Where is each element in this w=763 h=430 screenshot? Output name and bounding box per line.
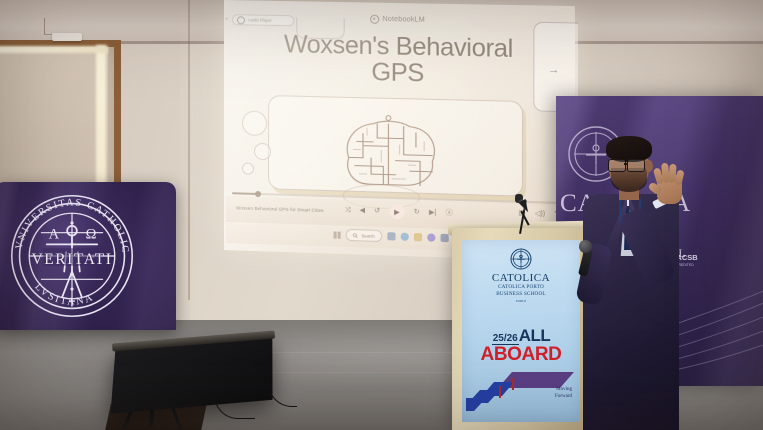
- lectern-brand-city: PORTO: [462, 299, 580, 303]
- eyeglasses-left-lens: [608, 159, 626, 172]
- notebooklm-brand-label: NotebookLM: [382, 16, 425, 24]
- search-icon: [353, 233, 358, 238]
- campaign-lockup: 25/26ALL ABOARD: [462, 326, 580, 364]
- lectern-panel: CATOLICA CATOLICA PORTO BUSINESS SCHOOL …: [462, 240, 580, 422]
- play-button[interactable]: ▶: [389, 204, 404, 220]
- seal-cross: ✝: [67, 297, 77, 310]
- arrow-right-icon: →: [548, 64, 559, 76]
- next-icon[interactable]: ▶|: [429, 209, 436, 216]
- speaker-figure: [575, 132, 705, 430]
- decorative-circle: [242, 110, 267, 136]
- lectern-brand-sub-2: BUSINESS SCHOOL: [462, 291, 580, 298]
- player-track-title: Woxsen Behavioral GPS for Smart Cities: [236, 205, 324, 213]
- presentation-photo-scene: + Audio Player NotebookLM Woxsen's Behav…: [0, 0, 763, 430]
- seal-alpha: Α: [49, 227, 60, 243]
- player-controls: ⤨ ◀ ↺ ▶ ↻ ▶| ⓧ: [345, 203, 453, 221]
- tagline-line-1: Moving: [555, 387, 572, 394]
- edge-icon[interactable]: [400, 233, 408, 241]
- store-icon[interactable]: [440, 234, 448, 242]
- lectern-brand-title: CATOLICA: [462, 272, 580, 284]
- window-top-glow: [0, 46, 108, 53]
- shuffle-icon[interactable]: ⤨: [345, 207, 351, 214]
- ceiling-fixture: [52, 33, 82, 41]
- lectern-tagline: Moving Forward: [555, 387, 572, 400]
- slide-title: Woxsen's Behavioral GPS: [224, 30, 575, 90]
- previous-icon[interactable]: ◀: [360, 207, 365, 214]
- widgets-icon[interactable]: [387, 232, 395, 240]
- start-icon[interactable]: [334, 231, 341, 238]
- teams-icon[interactable]: [427, 233, 435, 241]
- eyeglasses-right-lens: [627, 159, 645, 172]
- campaign-word-aboard: ABOARD: [462, 346, 580, 364]
- handheld-microphone-head: [579, 240, 592, 253]
- university-seal: VNIVERSITAS CATHOLICA LVSITANA Α Ω: [4, 188, 140, 324]
- eyeglasses-bridge: [624, 163, 628, 165]
- wall-corner: [188, 0, 190, 300]
- explorer-icon[interactable]: [414, 233, 422, 241]
- slide-title-line2: GPS: [224, 56, 575, 90]
- speaker-ear: [645, 160, 653, 172]
- svg-text:LVSITANA: LVSITANA: [32, 281, 96, 307]
- seek-progress: [232, 192, 258, 195]
- decorative-circle: [254, 143, 271, 160]
- notebooklm-logo-icon: [370, 15, 379, 24]
- campaign-word-all: ALL: [519, 326, 551, 345]
- taskbar-search-box[interactable]: Search: [346, 229, 382, 242]
- notebooklm-header: NotebookLM: [224, 8, 575, 33]
- lectern-brand-block: CATOLICA CATOLICA PORTO BUSINESS SCHOOL …: [462, 248, 580, 303]
- rewind-icon[interactable]: ↺: [374, 208, 380, 215]
- volume-icon[interactable]: ◁)): [535, 210, 545, 217]
- taskbar-search-label: Search: [361, 233, 374, 238]
- seal-omega: Ω: [86, 227, 97, 243]
- seal-motto: VERITATI: [31, 251, 112, 268]
- brain-circuit-illustration: [333, 113, 445, 195]
- decorative-circle: [242, 162, 254, 174]
- speed-icon[interactable]: ⓧ: [446, 210, 453, 217]
- tagline-line-2: Forward: [555, 394, 572, 401]
- seal-outer-bottom-text: LVSITANA: [32, 281, 96, 307]
- forward-icon[interactable]: ↻: [414, 209, 420, 216]
- speaker-raised-hand: [653, 162, 687, 204]
- left-banner: VNIVERSITAS CATHOLICA LVSITANA Α Ω: [0, 182, 176, 330]
- lectern-seal-icon: [510, 248, 532, 270]
